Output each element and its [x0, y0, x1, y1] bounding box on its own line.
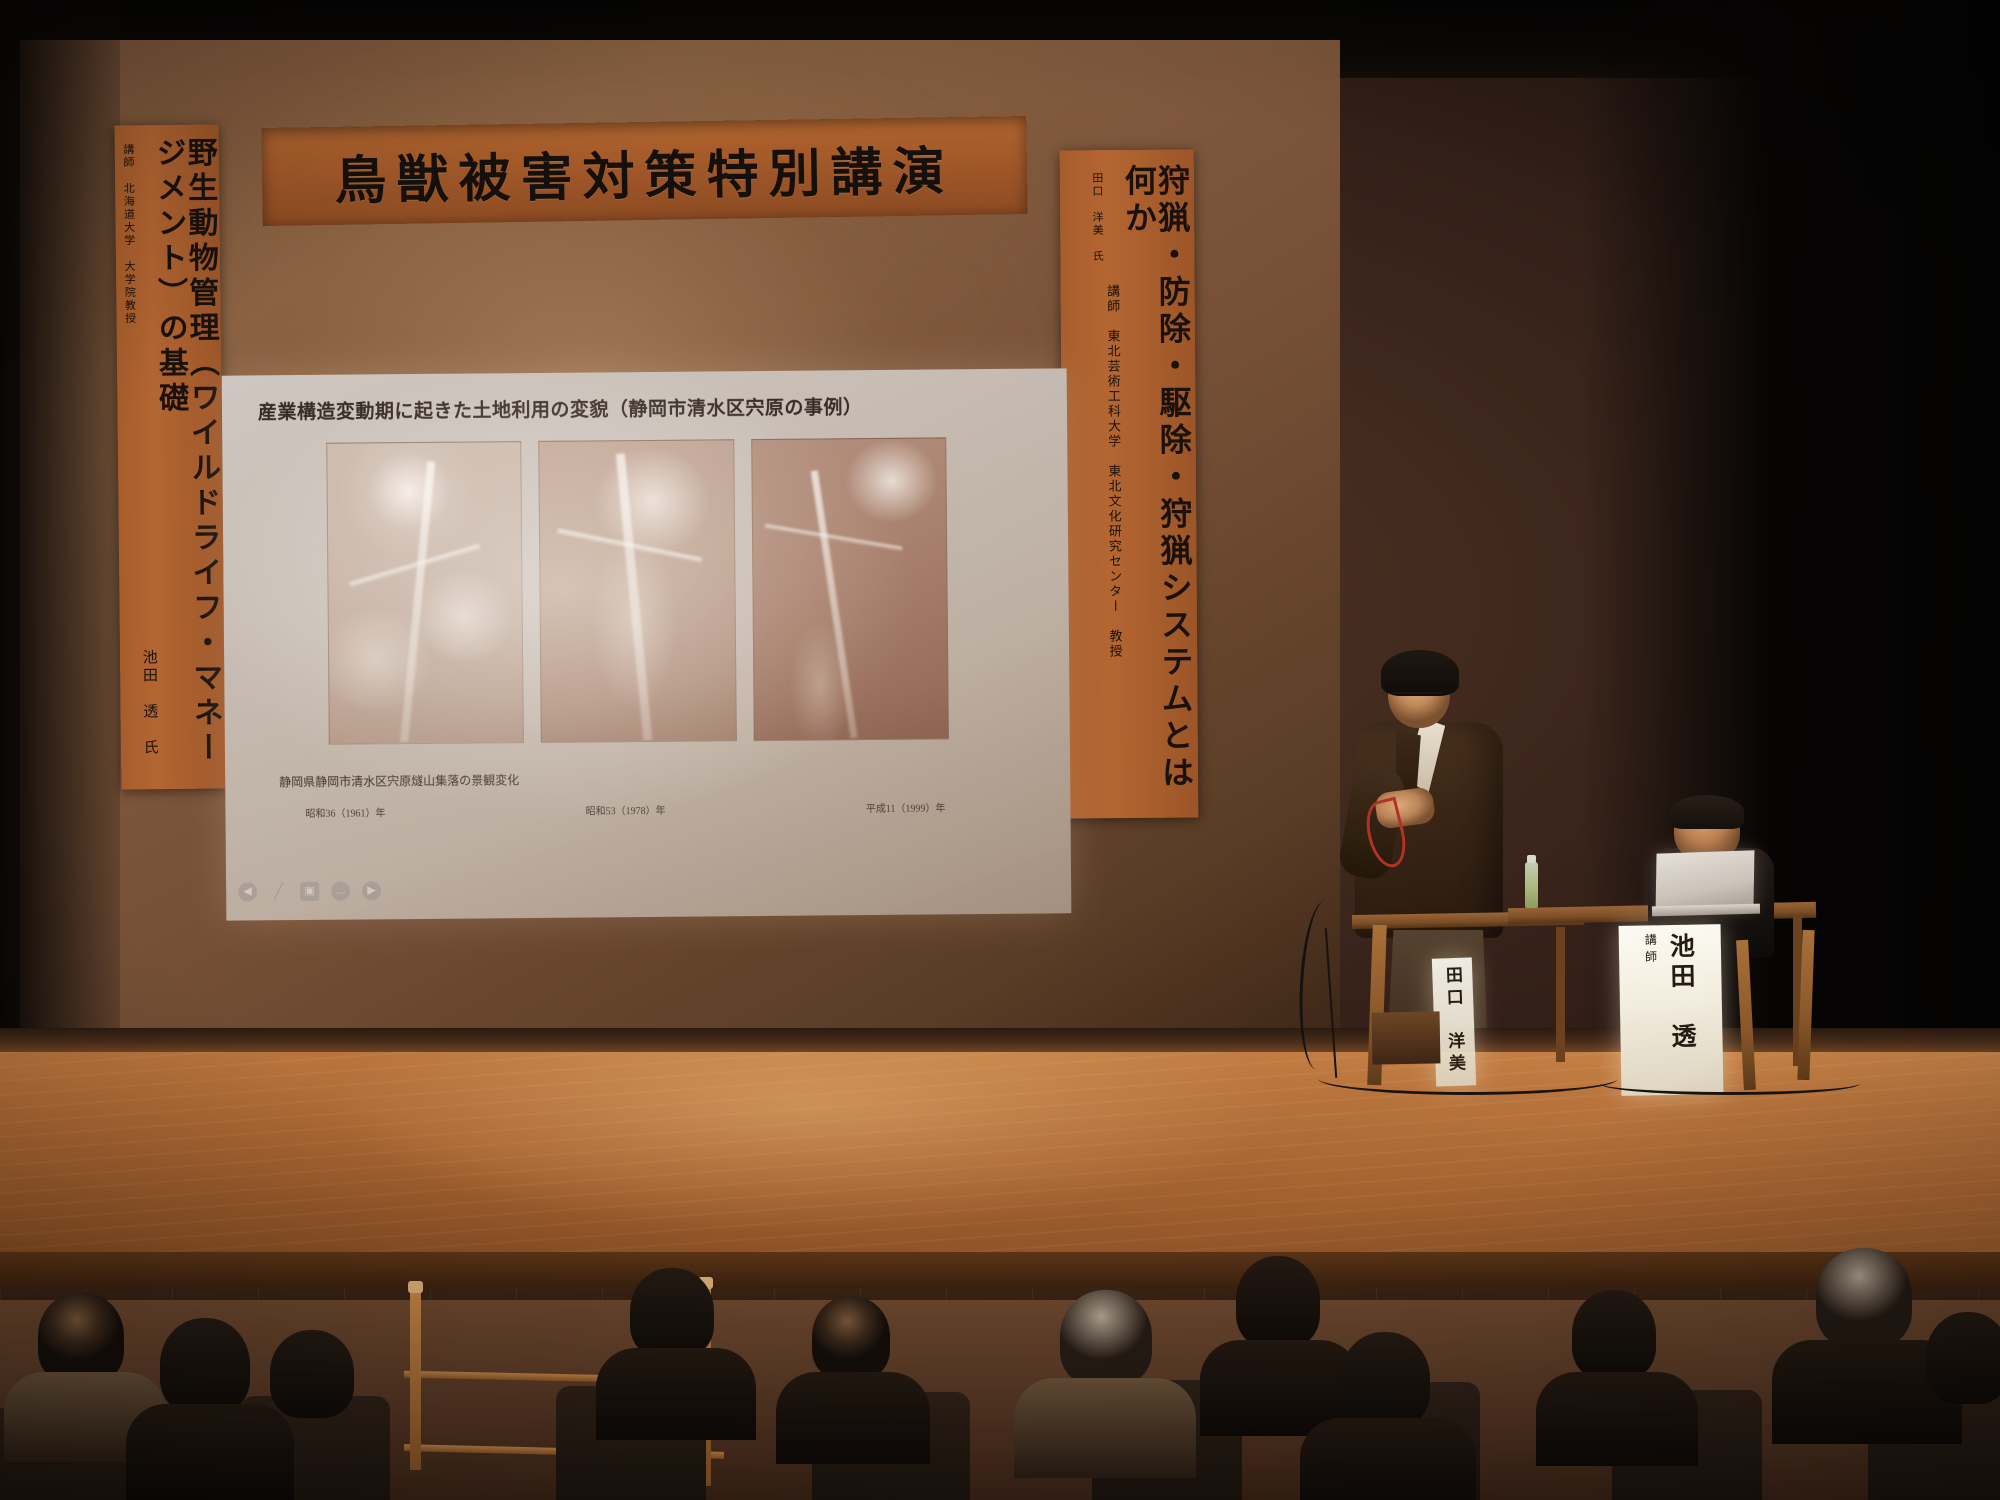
audience-head: [160, 1318, 250, 1414]
audience-head: [1926, 1312, 2000, 1404]
stage-equipment-box: [1372, 1011, 1441, 1064]
water-bottle: [1525, 862, 1538, 908]
previous-slide-icon[interactable]: ◀: [238, 882, 257, 901]
aerial-photo-1999: 平成11年: [751, 437, 949, 741]
aerial-photo-1978: 昭和53年: [539, 439, 737, 743]
audience-shoulders: [596, 1348, 756, 1440]
banner-left-speaker-name: 池田 透 氏: [140, 649, 157, 777]
laptop-screen: [1656, 850, 1755, 911]
pen-icon[interactable]: ╱: [269, 882, 288, 901]
operator-hair: [1670, 795, 1744, 829]
placard-ikeda: 池田 透 講師: [1619, 924, 1724, 1096]
left-wall-shadow: [0, 0, 120, 1120]
audience-head: [1060, 1290, 1152, 1386]
year-label-3: 平成11（1999）年: [866, 799, 946, 815]
aerial-photo-1961: 昭和36年: [326, 441, 524, 745]
next-slide-icon[interactable]: ▶: [362, 881, 381, 900]
banner-left-speaker-role: 講師 北海道大学 大学院教授: [121, 137, 134, 325]
audience-head: [270, 1330, 354, 1418]
banner-left-title: 野生動物管理（ワイルドライフ・マネージメント）の基礎: [152, 137, 221, 778]
audience-shoulders: [1014, 1378, 1196, 1478]
year-label-1: 昭和36（1961）年: [305, 804, 385, 820]
audience-head: [1340, 1332, 1430, 1428]
floor-light-pool: [280, 1052, 1380, 1262]
floor-cable-run-a: [1318, 1062, 1618, 1095]
banner-lecture-two: 狩猟・防除・駆除・狩猟システムとは何か 講師 東北芸術工科大学 東北文化研究セン…: [1060, 150, 1199, 819]
slide-menu-icon[interactable]: ▣: [300, 881, 319, 900]
stair-rail-post-left: [410, 1290, 421, 1470]
audience-shoulders: [1300, 1418, 1476, 1500]
audience-shoulders: [1536, 1372, 1698, 1466]
placard-taguchi-name: 田口 洋美: [1440, 966, 1469, 1077]
event-title-text: 鳥獣被害対策特別講演: [334, 129, 955, 214]
projection-screen: 産業構造変動期に起きた土地利用の変貌（静岡市清水区宍原の事例） 昭和36年 昭和…: [222, 368, 1072, 920]
slide-year-labels: 昭和36（1961）年 昭和53（1978）年 平成11（1999）年: [305, 799, 945, 820]
audience-head: [38, 1292, 124, 1384]
audience-shoulders: [126, 1404, 294, 1500]
banner-right-speaker-name: 田口 洋美 氏: [1090, 164, 1102, 263]
slide-caption: 静岡県静岡市清水区宍原燧山集落の景観変化: [279, 771, 519, 790]
lecture-hall-photo: 鳥獣被害対策特別講演 野生動物管理（ワイルドライフ・マネージメント）の基礎 池田…: [0, 0, 2000, 1500]
aerial-photo-row: 昭和36年 昭和53年 平成11年: [326, 437, 949, 742]
audience-shoulders: [776, 1372, 930, 1464]
table-left-leg-b: [1556, 927, 1565, 1062]
slide-title: 産業構造変動期に起きた土地利用の変貌（静岡市清水区宍原の事例）: [258, 390, 1053, 424]
presenter-hair: [1381, 650, 1459, 696]
banner-lecture-one: 野生動物管理（ワイルドライフ・マネージメント）の基礎 池田 透 氏 講師 北海道…: [115, 124, 226, 789]
audience-head: [1236, 1256, 1320, 1348]
bottle-cap-icon: [1527, 855, 1536, 863]
audience-head: [812, 1296, 890, 1380]
audience-head: [1572, 1290, 1656, 1380]
banner-right-speaker-role: 講師 東北芸術工科大学 東北文化研究センター 教授: [1105, 164, 1122, 659]
slideshow-control-bar[interactable]: ◀ ╱ ▣ … ▶: [222, 877, 399, 905]
rail-cap-left: [408, 1281, 423, 1293]
event-title-banner: 鳥獣被害対策特別講演: [261, 116, 1027, 226]
presenter-glasses: [1390, 692, 1442, 705]
banner-right-title: 狩猟・防除・駆除・狩猟システムとは何か: [1121, 164, 1192, 804]
placard-ikeda-title: 講師: [1642, 933, 1660, 967]
floor-cable-run-b: [1600, 1072, 1860, 1095]
audience-head: [1816, 1248, 1912, 1348]
year-label-2: 昭和53（1978）年: [586, 802, 666, 818]
placard-ikeda-name: 池田 透: [1661, 933, 1699, 1054]
audience-head: [630, 1268, 714, 1358]
more-options-icon[interactable]: …: [331, 881, 350, 900]
